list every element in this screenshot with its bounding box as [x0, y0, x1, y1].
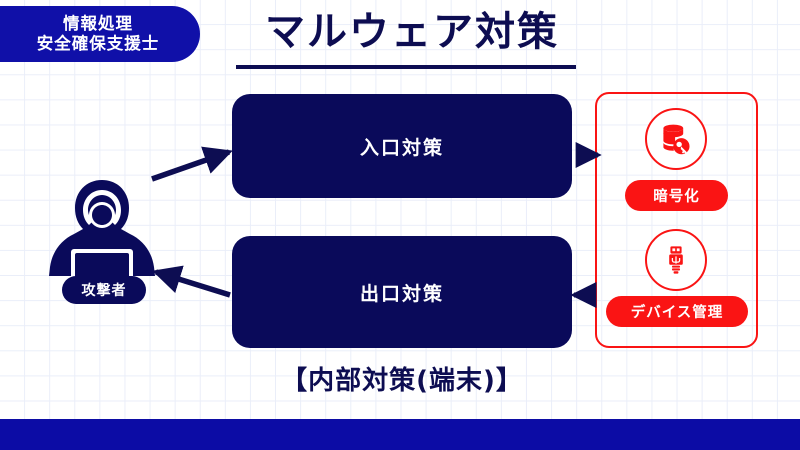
certification-badge: 情報処理 安全確保支援士: [0, 6, 200, 62]
encryption-icon-circle: [645, 108, 707, 170]
arrow-attacker-to-entry: [152, 152, 229, 179]
device-management-icon-circle: [645, 229, 707, 291]
encryption-pill[interactable]: 暗号化: [625, 180, 728, 211]
bottom-bar: [0, 419, 800, 450]
badge-line-2: 安全確保支援士: [37, 34, 160, 54]
internal-measures-caption: 【内部対策(端末)】: [230, 360, 574, 397]
exit-measures-box[interactable]: 出口対策: [232, 236, 572, 348]
badge-line-1: 情報処理: [63, 14, 133, 34]
entry-measures-box[interactable]: 入口対策: [232, 94, 572, 198]
title-underline: [236, 65, 576, 69]
device-management-pill[interactable]: デバイス管理: [606, 296, 748, 327]
attacker-label: 攻撃者: [62, 276, 146, 304]
database-key-icon: [658, 121, 694, 157]
usb-icon: [660, 244, 692, 276]
arrow-exit-to-attacker: [156, 272, 230, 295]
slide-canvas: 情報処理 安全確保支援士 マルウェア対策 入口対策 出口対策 攻撃者: [0, 0, 800, 450]
page-title: マルウェア対策: [232, 11, 592, 53]
